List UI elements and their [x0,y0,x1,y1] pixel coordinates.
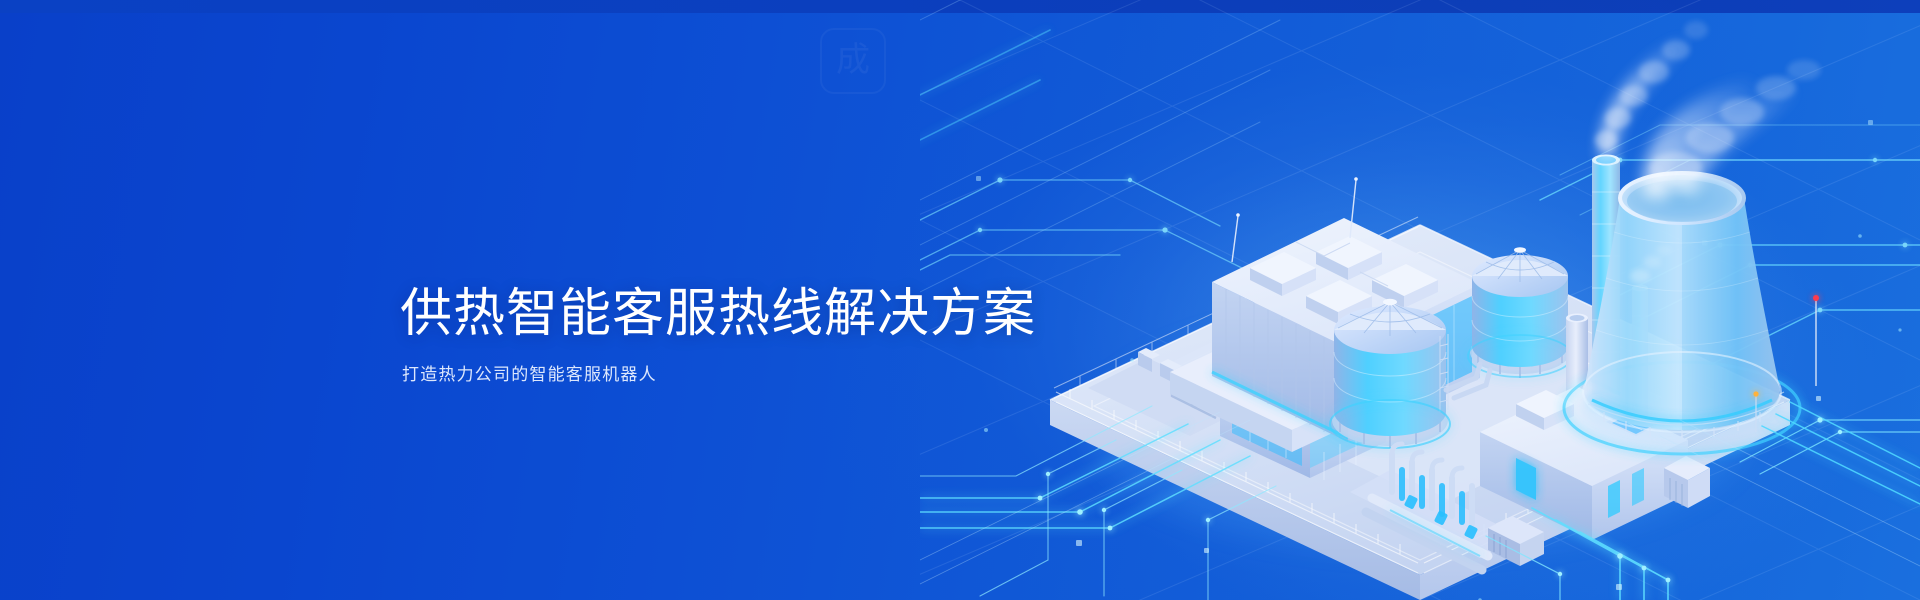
steam-plume-tower [1643,56,1821,200]
hero-banner: 成 [0,0,1920,600]
page-subtitle: 打造热力公司的智能客服机器人 [402,365,1036,385]
storage-tank-large [1330,299,1450,448]
storage-tank-small [1468,247,1572,378]
page-title: 供热智能客服热线解决方案 [400,286,1036,343]
illustration-power-plant [920,0,1920,600]
watermark-glyph: 成 [820,28,886,94]
banner-copy: 供热智能客服热线解决方案 打造热力公司的智能客服机器人 [400,286,1036,386]
